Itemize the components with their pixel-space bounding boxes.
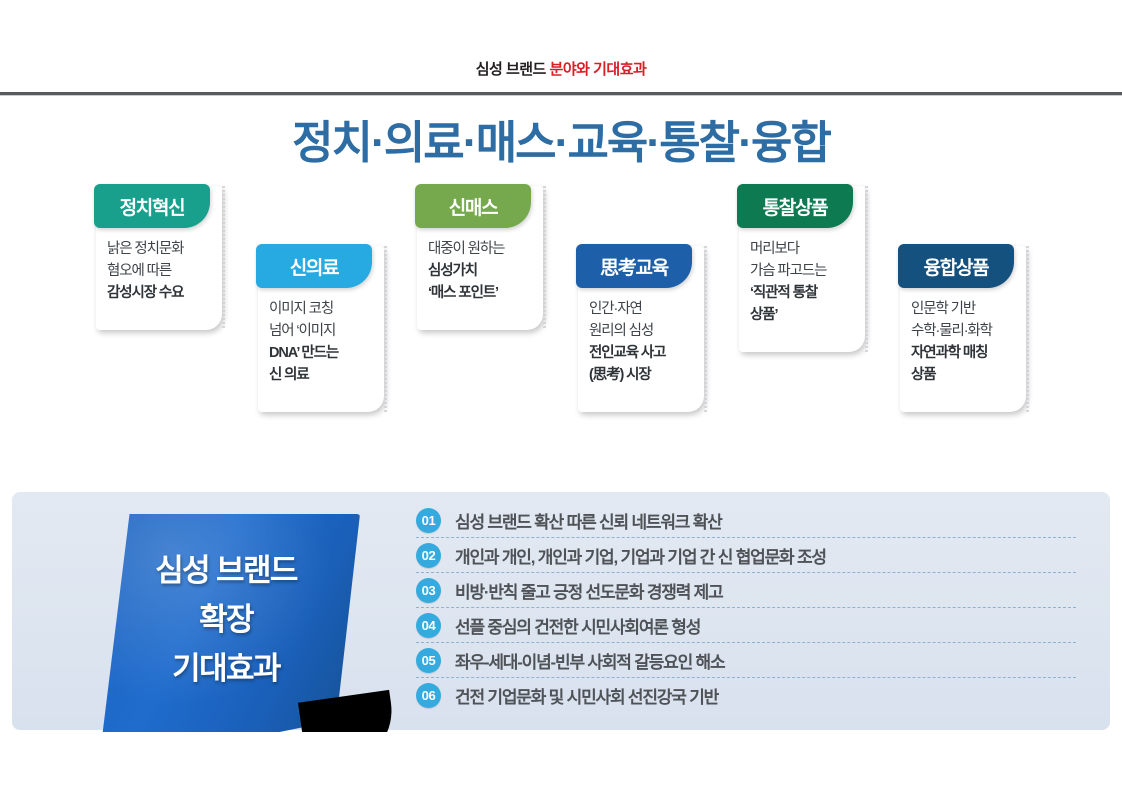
- header-divider-rule-soft: [0, 95, 1122, 96]
- list-item-label: 심성 브랜드 확산 따른 신뢰 네트워크 확산: [455, 508, 722, 533]
- list-item-number-badge: 03: [416, 578, 441, 603]
- banner-line-2: 확장: [199, 594, 253, 639]
- list-item-label: 개인과 개인, 개인과 기업, 기업과 기업 간 신 협업문화 조성: [455, 543, 826, 568]
- card-line: 심성가치: [428, 260, 535, 282]
- list-item-label: 비방·반칙 줄고 긍정 선도문화 경쟁력 제고: [455, 578, 723, 603]
- list-item[interactable]: 01 심성 브랜드 확산 따른 신뢰 네트워크 확산: [416, 503, 1076, 538]
- page-title: 정치·의료·매스·교육·통찰·융합: [0, 106, 1122, 171]
- card-line: 상품: [911, 364, 1018, 386]
- card-line: 머리보다: [750, 238, 857, 260]
- card-body-politics: 낡은 정치문화 혐오에 따른 감성시장 수요: [96, 228, 222, 330]
- list-item-number-badge: 02: [416, 543, 441, 568]
- card-line: 전인교육 사고: [589, 342, 696, 364]
- card-title: 정치혁신: [120, 193, 185, 220]
- card-header-politics: 정치혁신: [94, 184, 210, 228]
- card-line: 인간·자연: [589, 298, 696, 320]
- list-item-label: 건전 기업문화 및 시민사회 선진강국 기반: [455, 683, 718, 708]
- card-line: 원리의 심성: [589, 320, 696, 342]
- card-line: ‘직관적 통찰: [750, 282, 857, 304]
- card-header-insight-product: 통찰상품: [737, 184, 853, 228]
- card-convergence-product[interactable]: 융합상품 인문학 기반 수학·물리·화학 자연과학 매칭 상품: [900, 246, 1026, 412]
- card-insight-product[interactable]: 통찰상품 머리보다 가슴 파고드는 ‘직관적 통찰 상품’: [739, 186, 865, 352]
- card-line: 인문학 기반: [911, 298, 1018, 320]
- page-curl-mask: [274, 732, 394, 784]
- card-line: 상품’: [750, 304, 857, 326]
- card-body-new-medicine: 이미지 코칭 넘어 ‘이미지 DNA’ 만드는 신 의료: [258, 288, 384, 412]
- category-card-row: 정치혁신 낡은 정치문화 혐오에 따른 감성시장 수요 신의료 이미지 코칭 넘…: [0, 186, 1122, 476]
- card-header-new-medicine: 신의료: [256, 244, 372, 288]
- card-body-new-mass: 대중이 원하는 심성가치 ‘매스 포인트’: [417, 228, 543, 330]
- card-title: 신매스: [449, 193, 498, 220]
- card-line: 이미지 코칭: [269, 298, 376, 320]
- kicker-header: 심성 브랜드 분야와 기대효과: [0, 58, 1122, 79]
- banner-line-1: 심성 브랜드: [155, 545, 297, 590]
- list-item-label: 좌우-세대-이념-빈부 사회적 갈등요인 해소: [455, 648, 724, 673]
- card-line: 가슴 파고드는: [750, 260, 857, 282]
- list-item-label: 선플 중심의 건전한 시민사회여론 형성: [455, 613, 700, 638]
- card-line: 넘어 ‘이미지: [269, 320, 376, 342]
- card-line: (思考) 시장: [589, 364, 696, 386]
- expected-effects-list: 01 심성 브랜드 확산 따른 신뢰 네트워크 확산 02 개인과 개인, 개인…: [416, 503, 1076, 712]
- card-header-thinking-education: 思考교육: [576, 244, 692, 288]
- card-line: 자연과학 매칭: [911, 342, 1018, 364]
- card-body-insight-product: 머리보다 가슴 파고드는 ‘직관적 통찰 상품’: [739, 228, 865, 352]
- list-item[interactable]: 04 선플 중심의 건전한 시민사회여론 형성: [416, 608, 1076, 643]
- card-line: ‘매스 포인트’: [428, 282, 535, 304]
- card-line: 감성시장 수요: [107, 282, 214, 304]
- kicker-accent-text: 분야와 기대효과: [550, 61, 647, 78]
- card-line: 혐오에 따른: [107, 260, 214, 282]
- card-line: 낡은 정치문화: [107, 238, 214, 260]
- card-line: 대중이 원하는: [428, 238, 535, 260]
- banner-text: 심성 브랜드 확장 기대효과: [92, 514, 360, 732]
- card-new-mass[interactable]: 신매스 대중이 원하는 심성가치 ‘매스 포인트’: [417, 186, 543, 330]
- card-header-new-mass: 신매스: [415, 184, 531, 228]
- card-title: 思考교육: [600, 253, 668, 280]
- card-politics[interactable]: 정치혁신 낡은 정치문화 혐오에 따른 감성시장 수요: [96, 186, 222, 330]
- card-thinking-education[interactable]: 思考교육 인간·자연 원리의 심성 전인교육 사고 (思考) 시장: [578, 246, 704, 412]
- list-item[interactable]: 06 건전 기업문화 및 시민사회 선진강국 기반: [416, 678, 1076, 712]
- list-item[interactable]: 05 좌우-세대-이념-빈부 사회적 갈등요인 해소: [416, 643, 1076, 678]
- card-title: 신의료: [290, 253, 339, 280]
- card-title: 융합상품: [924, 253, 989, 280]
- list-item-number-badge: 01: [416, 508, 441, 533]
- kicker-text: 심성 브랜드 분야와 기대효과: [476, 58, 647, 79]
- brand-expansion-banner: 심성 브랜드 확장 기대효과: [92, 514, 360, 732]
- list-item-number-badge: 05: [416, 648, 441, 673]
- card-line: 신 의료: [269, 364, 376, 386]
- card-line: DNA’ 만드는: [269, 342, 376, 364]
- banner-line-3: 기대효과: [172, 643, 280, 688]
- list-item[interactable]: 02 개인과 개인, 개인과 기업, 기업과 기업 간 신 협업문화 조성: [416, 538, 1076, 573]
- card-body-convergence-product: 인문학 기반 수학·물리·화학 자연과학 매칭 상품: [900, 288, 1026, 412]
- card-line: 수학·물리·화학: [911, 320, 1018, 342]
- card-header-convergence-product: 융합상품: [898, 244, 1014, 288]
- card-new-medicine[interactable]: 신의료 이미지 코칭 넘어 ‘이미지 DNA’ 만드는 신 의료: [258, 246, 384, 412]
- list-item-number-badge: 06: [416, 683, 441, 708]
- list-item[interactable]: 03 비방·반칙 줄고 긍정 선도문화 경쟁력 제고: [416, 573, 1076, 608]
- list-item-number-badge: 04: [416, 613, 441, 638]
- card-title: 통찰상품: [763, 193, 828, 220]
- card-body-thinking-education: 인간·자연 원리의 심성 전인교육 사고 (思考) 시장: [578, 288, 704, 412]
- kicker-plain-text: 심성 브랜드: [476, 61, 550, 78]
